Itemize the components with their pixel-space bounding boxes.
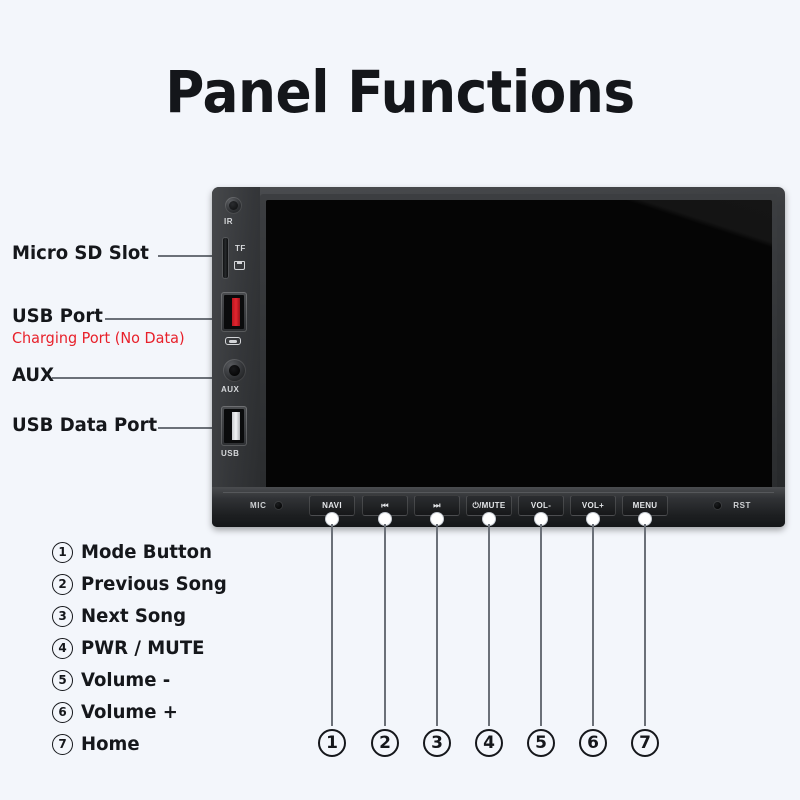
legend-item-number: 2 (52, 574, 73, 595)
head-unit-device: IR TF AUX USB (212, 187, 785, 527)
legend-item-number: 6 (52, 702, 73, 723)
control-bar: MIC RST NAVI⏮⏭⏻/MUTEVOL-VOL+MENU (212, 487, 785, 527)
mic-label: MIC (250, 501, 266, 510)
port-callout-label: USB Data Port (12, 414, 157, 436)
button-leader-line (384, 524, 386, 726)
legend-item: 4PWR / MUTE (52, 632, 234, 664)
port-leader-line (158, 255, 218, 257)
control-button-label: ⏭ (433, 501, 441, 511)
reset-hole-icon[interactable] (714, 502, 721, 509)
port-callout-label: Micro SD Slot (12, 242, 149, 264)
control-button-label: NAVI (322, 501, 342, 510)
microsd-slot[interactable] (223, 238, 228, 278)
port-callout-label: AUX (12, 364, 54, 386)
usb-charging-port-cavity (224, 295, 244, 329)
port-leader-line (105, 318, 218, 320)
legend-item-label: PWR / MUTE (81, 637, 204, 659)
button-leader-line (331, 524, 333, 726)
screen-reflection (266, 200, 772, 432)
mic-hole-icon (275, 502, 282, 509)
legend-item-number: 1 (52, 542, 73, 563)
legend-item-number: 4 (52, 638, 73, 659)
legend-item-number: 5 (52, 670, 73, 691)
touchscreen-display[interactable] (266, 200, 772, 490)
legend-item-label: Home (81, 733, 140, 755)
screen-bezel (260, 194, 777, 495)
tf-label: TF (235, 244, 246, 253)
port-leader-line (52, 377, 218, 379)
legend-item: 6Volume + (52, 696, 234, 728)
button-leader-line (436, 524, 438, 726)
usb-data-port-cavity (224, 409, 244, 443)
button-number-7: 7 (631, 729, 659, 757)
legend-item: 2Previous Song (52, 568, 234, 600)
legend-item-number: 7 (52, 734, 73, 755)
button-number-3: 3 (423, 729, 451, 757)
legend-item-number: 3 (52, 606, 73, 627)
port-leader-line (158, 427, 218, 429)
control-button-label: ⏻/MUTE (472, 501, 505, 511)
panel-functions-diagram: Panel Functions Micro SD SlotUSB PortCha… (0, 0, 800, 800)
legend-item-label: Volume + (81, 701, 178, 723)
button-number-5: 5 (527, 729, 555, 757)
usb-label: USB (221, 449, 239, 458)
ir-sensor-icon (225, 197, 242, 214)
legend-item-label: Previous Song (81, 573, 227, 595)
button-leader-line (488, 524, 490, 726)
legend-item-label: Mode Button (81, 541, 212, 563)
control-button-label: ⏮ (381, 501, 389, 511)
port-column: IR TF AUX USB (212, 187, 260, 495)
legend-item: 7Home (52, 728, 234, 760)
port-callout-label: USB Port (12, 305, 103, 327)
ir-label: IR (224, 217, 233, 226)
control-button-label: VOL+ (582, 501, 604, 510)
usb-data-port-tongue (232, 412, 240, 440)
usb-data-port[interactable] (221, 406, 247, 446)
usb-charging-port[interactable] (221, 292, 247, 332)
page-title: Panel Functions (32, 58, 768, 126)
legend-item: 1Mode Button (52, 536, 234, 568)
button-leader-line (592, 524, 594, 726)
button-number-4: 4 (475, 729, 503, 757)
aux-label: AUX (221, 385, 239, 394)
button-leader-line (644, 524, 646, 726)
battery-charge-icon (225, 337, 241, 345)
legend-item: 5Volume - (52, 664, 234, 696)
legend-item-label: Next Song (81, 605, 186, 627)
rst-label: RST (733, 501, 751, 510)
control-button-label: VOL- (531, 501, 551, 510)
aux-jack[interactable] (223, 359, 246, 382)
button-number-2: 2 (371, 729, 399, 757)
control-button-label: MENU (633, 501, 658, 510)
memory-card-icon (234, 261, 245, 270)
legend-list: 1Mode Button2Previous Song3Next Song4PWR… (52, 536, 234, 760)
button-leader-line (540, 524, 542, 726)
port-callout-subtext: Charging Port (No Data) (12, 329, 185, 347)
legend-item: 3Next Song (52, 600, 234, 632)
usb-charging-port-tongue (232, 298, 240, 326)
button-number-6: 6 (579, 729, 607, 757)
button-number-1: 1 (318, 729, 346, 757)
legend-item-label: Volume - (81, 669, 170, 691)
